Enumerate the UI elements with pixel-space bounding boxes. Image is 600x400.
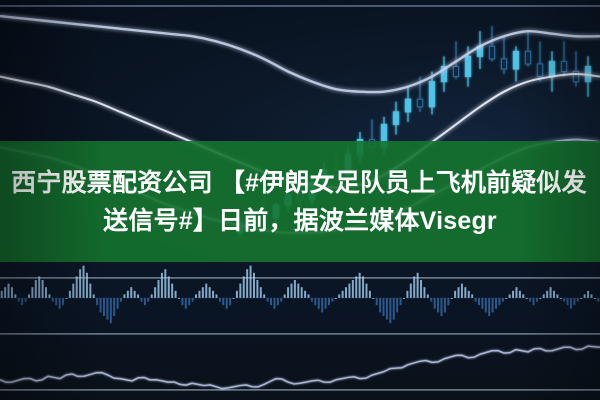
chart-banner: 西宁股票配资公司 【#伊朗女足队员上飞机前疑似发 送信号#】日前，据波兰媒体Vi… — [0, 0, 600, 400]
macd-histogram-svg — [0, 262, 600, 334]
macd-histogram-panel — [0, 262, 600, 334]
oscillator-svg — [0, 334, 600, 400]
oscillator-panel — [0, 334, 600, 400]
headline-band: 西宁股票配资公司 【#伊朗女足队员上飞机前疑似发 送信号#】日前，据波兰媒体Vi… — [0, 141, 600, 262]
headline-line-1: 西宁股票配资公司 【#伊朗女足队员上飞机前疑似发 — [11, 164, 587, 202]
headline-text: 西宁股票配资公司 【#伊朗女足队员上飞机前疑似发 送信号#】日前，据波兰媒体Vi… — [13, 164, 587, 240]
headline-line-2: 送信号#】日前，据波兰媒体Visegr — [13, 202, 587, 240]
